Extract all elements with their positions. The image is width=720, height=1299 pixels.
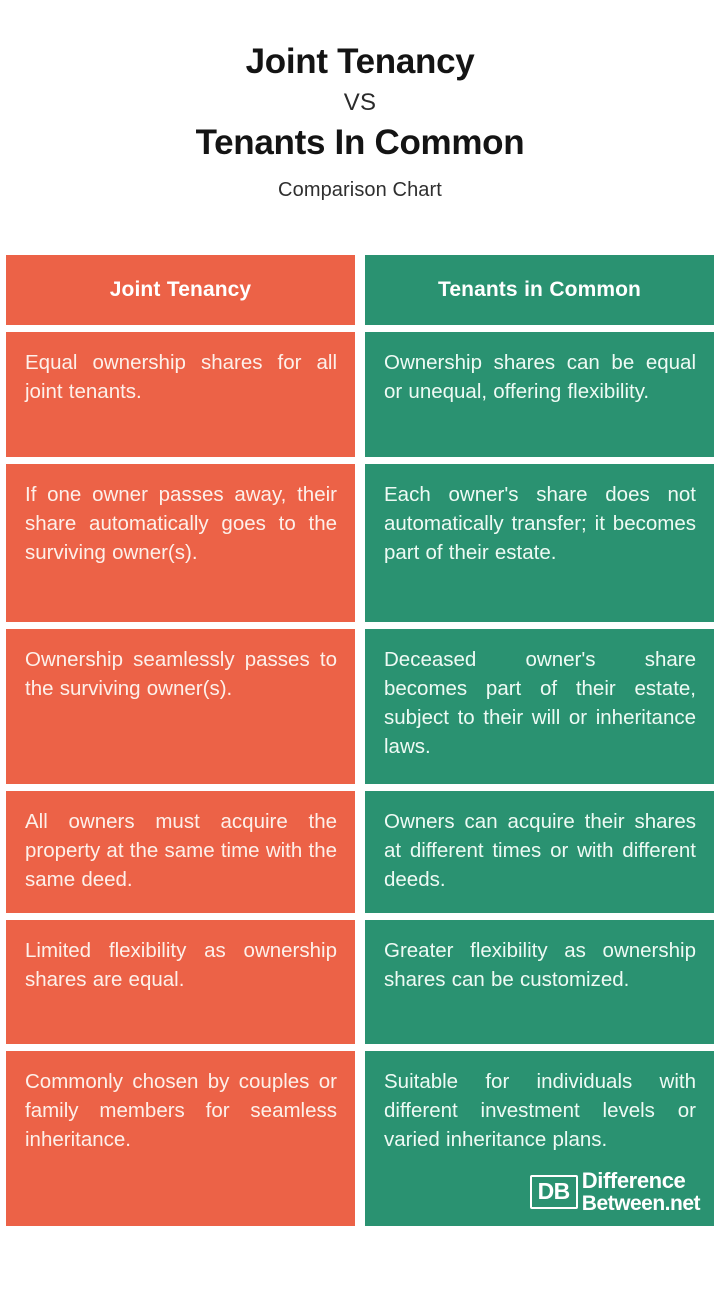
page-title-line-2: Tenants In Common [20, 123, 700, 164]
table-row: Ownership seamlessly passes to the survi… [6, 629, 714, 784]
cell-joint-tenancy-4: All owners must acquire the property at … [6, 791, 355, 913]
db-monogram-icon: DB [530, 1175, 578, 1209]
comparison-table: Joint Tenancy Tenants in Common Equal ow… [6, 255, 714, 1226]
cell-tenants-in-common-6: Suitable for individuals with different … [365, 1051, 714, 1226]
cell-joint-tenancy-6: Commonly chosen by couples or family mem… [6, 1051, 355, 1226]
header: Joint Tenancy VS Tenants In Common Compa… [0, 0, 720, 202]
cell-tenants-in-common-2: Each owner's share does not automaticall… [365, 464, 714, 622]
difference-between-logo: DB Difference Between.net [530, 1170, 700, 1214]
page-subtitle: Comparison Chart [20, 179, 700, 202]
cell-tenants-in-common-6-text: Suitable for individuals with different … [384, 1070, 696, 1151]
cell-tenants-in-common-3: Deceased owner's share becomes part of t… [365, 629, 714, 784]
table-row: If one owner passes away, their share au… [6, 464, 714, 622]
cell-joint-tenancy-1: Equal ownership shares for all joint ten… [6, 332, 355, 457]
table-row: Commonly chosen by couples or family mem… [6, 1051, 714, 1226]
column-header-tenants-in-common: Tenants in Common [365, 255, 714, 325]
table-row: Equal ownership shares for all joint ten… [6, 332, 714, 457]
page-title-line-1: Joint Tenancy [20, 42, 700, 83]
logo-word-difference: Difference [582, 1170, 700, 1192]
page-title-vs: VS [20, 85, 700, 121]
logo-word-between-net: Between.net [582, 1193, 700, 1214]
logo-wordmark: Difference Between.net [582, 1170, 700, 1214]
cell-tenants-in-common-1: Ownership shares can be equal or unequal… [365, 332, 714, 457]
table-row: Limited flexibility as ownership shares … [6, 920, 714, 1044]
table-row: All owners must acquire the property at … [6, 791, 714, 913]
cell-tenants-in-common-4: Owners can acquire their shares at diffe… [365, 791, 714, 913]
table-header-row: Joint Tenancy Tenants in Common [6, 255, 714, 325]
cell-joint-tenancy-5: Limited flexibility as ownership shares … [6, 920, 355, 1044]
column-header-joint-tenancy: Joint Tenancy [6, 255, 355, 325]
cell-joint-tenancy-2: If one owner passes away, their share au… [6, 464, 355, 622]
cell-tenants-in-common-5: Greater flexibility as ownership shares … [365, 920, 714, 1044]
cell-joint-tenancy-3: Ownership seamlessly passes to the survi… [6, 629, 355, 784]
comparison-chart-page: Joint Tenancy VS Tenants In Common Compa… [0, 0, 720, 1299]
